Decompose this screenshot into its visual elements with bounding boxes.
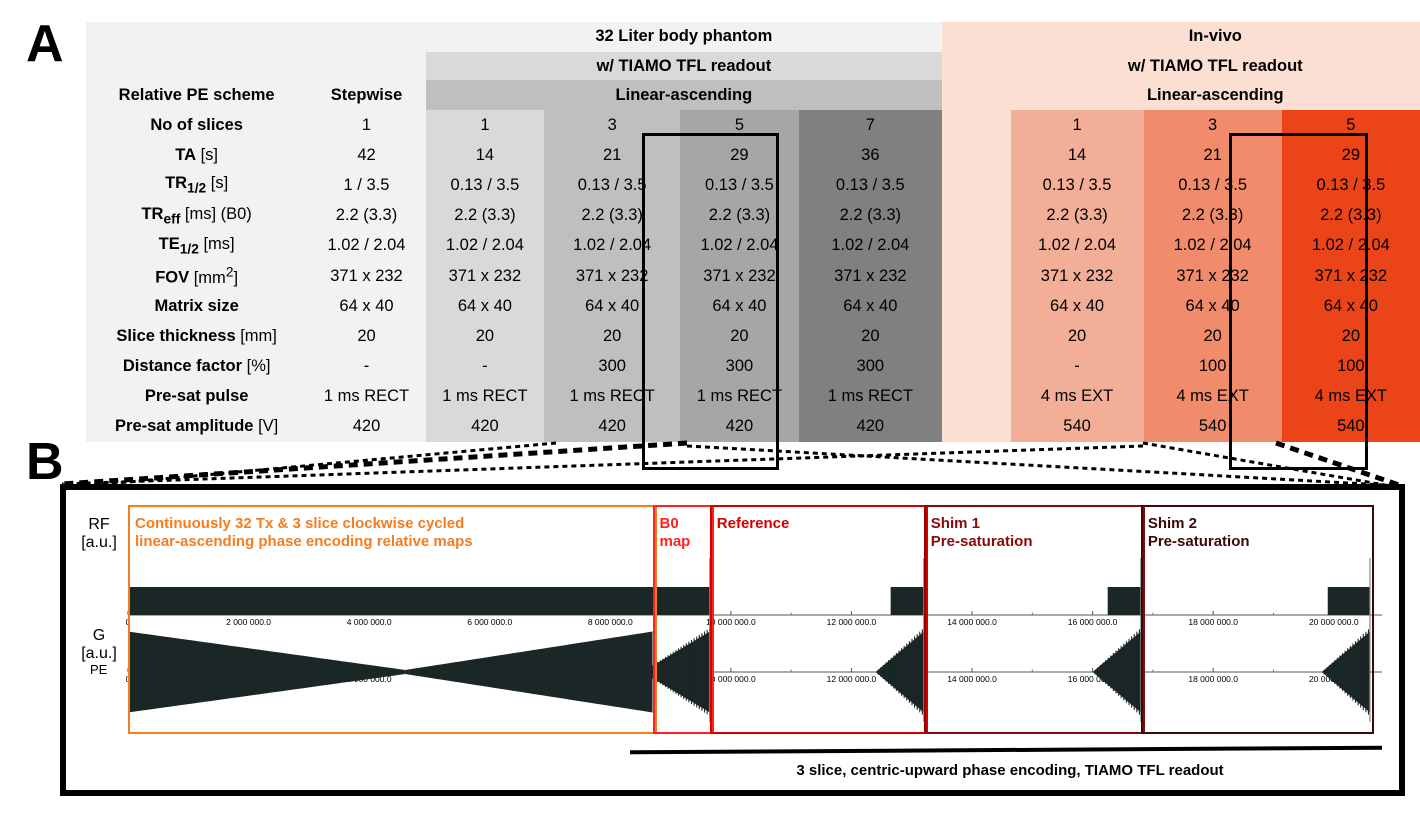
row-label-2: TR1/2 [s] — [86, 171, 307, 201]
cell-ph-lin-7-5: 371 x 232 — [799, 261, 942, 291]
cell-iv-lin-1-8: - — [1011, 352, 1144, 382]
table-row: TA [s]4214212936142129 — [86, 141, 1420, 171]
cell-iv-lin-1-1: 14 — [1011, 141, 1144, 171]
table-row: No of slices11357135 — [86, 110, 1420, 140]
region-label-line2-shim1: Pre-saturation — [931, 533, 1033, 551]
cell-ph-lin-5-9: 1 ms RECT — [680, 382, 798, 412]
table-row: Pre-sat pulse1 ms RECT1 ms RECT1 ms RECT… — [86, 382, 1420, 412]
spacer-cell — [942, 231, 1011, 261]
spec-table: 32 Liter body phantomIn-vivow/ TIAMO TFL… — [86, 22, 1420, 442]
scheme-linear-invivo: Linear-ascending — [1011, 80, 1420, 110]
sequence-region-label-reference: Reference — [717, 515, 790, 533]
cell-ph-lin-5-1: 29 — [680, 141, 798, 171]
cell-ph-lin-1-2: 0.13 / 3.5 — [426, 171, 544, 201]
cell-iv-lin-5-7: 20 — [1282, 321, 1420, 351]
cell-ph-lin-5-3: 2.2 (3.3) — [680, 201, 798, 231]
cell-ph-lin-7-2: 0.13 / 3.5 — [799, 171, 942, 201]
region-label-line1-shim1: Shim 1 — [931, 515, 1033, 533]
cell-iv-lin-3-2: 0.13 / 3.5 — [1144, 171, 1282, 201]
row-label-4: TE1/2 [ms] — [86, 231, 307, 261]
pe-envelope-3 — [876, 632, 924, 713]
spec-table-container: 32 Liter body phantomIn-vivow/ TIAMO TFL… — [86, 22, 1420, 442]
cell-ph-lin-3-2: 0.13 / 3.5 — [544, 171, 680, 201]
cell-ph-stepwise-3: 2.2 (3.3) — [307, 201, 425, 231]
table-group-subtitle-row: w/ TIAMO TFL readoutw/ TIAMO TFL readout — [86, 52, 1420, 80]
cell-ph-lin-1-8: - — [426, 352, 544, 382]
cell-ph-lin-1-1: 14 — [426, 141, 544, 171]
cell-iv-lin-1-2: 0.13 / 3.5 — [1011, 171, 1144, 201]
cell-iv-lin-3-9: 4 ms EXT — [1144, 382, 1282, 412]
axis-tick-label-rf-5: 10 000 000.0 — [706, 617, 756, 627]
row-label-3: TReff [ms] (B0) — [86, 201, 307, 231]
cell-iv-lin-1-4: 1.02 / 2.04 — [1011, 231, 1144, 261]
cell-iv-lin-1-3: 2.2 (3.3) — [1011, 201, 1144, 231]
row-label-1: TA [s] — [86, 141, 307, 171]
axis-tick-label-rf-4: 8 000 000.0 — [588, 617, 633, 627]
table-group-title-row: 32 Liter body phantomIn-vivo — [86, 22, 1420, 52]
cell-iv-lin-3-4: 1.02 / 2.04 — [1144, 231, 1282, 261]
spacer-cell — [942, 261, 1011, 291]
axis-tick-label-rf-10: 20 000 000.0 — [1309, 617, 1359, 627]
cell-ph-stepwise-0: 1 — [307, 110, 425, 140]
cell-ph-stepwise-2: 1 / 3.5 — [307, 171, 425, 201]
axis-tick-label-g-6: 12 000 000.0 — [827, 674, 877, 684]
axis-tick-label-rf-9: 18 000 000.0 — [1188, 617, 1238, 627]
cell-ph-stepwise-1: 42 — [307, 141, 425, 171]
cell-ph-lin-3-0: 3 — [544, 110, 680, 140]
spacer-cell — [942, 52, 1011, 80]
cell-ph-stepwise-8: - — [307, 352, 425, 382]
row-label-7: Slice thickness [mm] — [86, 321, 307, 351]
region-label-line1-shim2: Shim 2 — [1148, 515, 1250, 533]
pe-envelope-5 — [1322, 632, 1370, 713]
pe-envelope-1 — [405, 632, 652, 713]
rf-block-3 — [1328, 587, 1370, 615]
axis-tick-label-g-9: 18 000 000.0 — [1188, 674, 1238, 684]
cell-ph-lin-7-7: 20 — [799, 321, 942, 351]
cell-ph-lin-1-9: 1 ms RECT — [426, 382, 544, 412]
row-label-0: No of slices — [86, 110, 307, 140]
cell-ph-lin-7-1: 36 — [799, 141, 942, 171]
spacer-cell — [942, 80, 1011, 110]
region-label-line2-shim2: Pre-saturation — [1148, 533, 1250, 551]
cell-iv-lin-3-3: 2.2 (3.3) — [1144, 201, 1282, 231]
panel-a-label: A — [26, 18, 64, 70]
sequence-region-label-shim2: Shim 2Pre-saturation — [1148, 515, 1250, 550]
axis-tick-label-rf-8: 16 000 000.0 — [1068, 617, 1118, 627]
axis-tick-label-g-7: 14 000 000.0 — [947, 674, 997, 684]
cell-iv-lin-5-6: 64 x 40 — [1282, 291, 1420, 321]
panel-b-caption: 3 slice, centric-upward phase encoding, … — [630, 762, 1390, 779]
cell-ph-lin-3-3: 2.2 (3.3) — [544, 201, 680, 231]
sequence-region-label-b0map: B0map — [660, 515, 691, 550]
rf-block-1 — [891, 587, 924, 615]
row-label-5: FOV [mm2] — [86, 261, 307, 291]
cell-iv-lin-3-0: 3 — [1144, 110, 1282, 140]
sequence-region-label-shim1: Shim 1Pre-saturation — [931, 515, 1033, 550]
region-label-line1-cycled: Continuously 32 Tx & 3 slice clockwise c… — [135, 515, 473, 533]
cell-ph-lin-7-4: 1.02 / 2.04 — [799, 231, 942, 261]
cell-iv-lin-3-7: 20 — [1144, 321, 1282, 351]
group-subtitle-invivo: w/ TIAMO TFL readout — [1011, 52, 1420, 80]
cell-ph-lin-3-7: 20 — [544, 321, 680, 351]
region-label-line1-b0map: B0 — [660, 515, 691, 533]
scheme-linear-phantom: Linear-ascending — [426, 80, 942, 110]
cell-ph-lin-3-4: 1.02 / 2.04 — [544, 231, 680, 261]
cell-iv-lin-5-8: 100 — [1282, 352, 1420, 382]
table-row: FOV [mm2]371 x 232371 x 232371 x 232371 … — [86, 261, 1420, 291]
cell-iv-lin-5-9: 4 ms EXT — [1282, 382, 1420, 412]
cell-ph-lin-7-3: 2.2 (3.3) — [799, 201, 942, 231]
cell-ph-stepwise-5: 371 x 232 — [307, 261, 425, 291]
cell-ph-lin-3-9: 1 ms RECT — [544, 382, 680, 412]
table-scheme-row: Relative PE schemeStepwiseLinear-ascendi… — [86, 80, 1420, 110]
cell-ph-stepwise-6: 64 x 40 — [307, 291, 425, 321]
cell-ph-stepwise-7: 20 — [307, 321, 425, 351]
row-label-9: Pre-sat pulse — [86, 382, 307, 412]
cell-iv-lin-5-5: 371 x 232 — [1282, 261, 1420, 291]
cell-ph-lin-5-8: 300 — [680, 352, 798, 382]
cell-ph-lin-3-1: 21 — [544, 141, 680, 171]
axis-tick-label-rf-2: 4 000 000.0 — [347, 617, 392, 627]
row-label-6: Matrix size — [86, 291, 307, 321]
spacer-cell — [942, 352, 1011, 382]
rf-block-2 — [1108, 587, 1141, 615]
spacer-cell — [86, 22, 307, 52]
group-title-phantom: 32 Liter body phantom — [426, 22, 942, 52]
spacer-cell — [942, 110, 1011, 140]
cell-ph-lin-5-4: 1.02 / 2.04 — [680, 231, 798, 261]
cell-ph-lin-1-3: 2.2 (3.3) — [426, 201, 544, 231]
cell-ph-lin-3-5: 371 x 232 — [544, 261, 680, 291]
cell-iv-lin-1-6: 64 x 40 — [1011, 291, 1144, 321]
cell-ph-lin-5-5: 371 x 232 — [680, 261, 798, 291]
table-row: Distance factor [%]--300300300-100100 — [86, 352, 1420, 382]
spacer-cell — [942, 141, 1011, 171]
pe-envelope-0 — [128, 632, 405, 713]
cell-iv-lin-1-0: 1 — [1011, 110, 1144, 140]
row-label-8: Distance factor [%] — [86, 352, 307, 382]
cell-ph-lin-7-9: 1 ms RECT — [799, 382, 942, 412]
sequence-region-label-cycled: Continuously 32 Tx & 3 slice clockwise c… — [135, 515, 473, 550]
cell-ph-lin-1-0: 1 — [426, 110, 544, 140]
table-row: Matrix size64 x 4064 x 4064 x 4064 x 406… — [86, 291, 1420, 321]
cell-ph-lin-5-7: 20 — [680, 321, 798, 351]
table-row: TE1/2 [ms]1.02 / 2.041.02 / 2.041.02 / 2… — [86, 231, 1420, 261]
cell-ph-stepwise-9: 1 ms RECT — [307, 382, 425, 412]
axis-tick-label-rf-6: 12 000 000.0 — [827, 617, 877, 627]
region-label-line2-b0map: map — [660, 533, 691, 551]
cell-ph-lin-5-6: 64 x 40 — [680, 291, 798, 321]
cell-iv-lin-3-6: 64 x 40 — [1144, 291, 1282, 321]
row-label-relative-pe-scheme: Relative PE scheme — [86, 80, 307, 110]
cell-iv-lin-1-5: 371 x 232 — [1011, 261, 1144, 291]
cell-iv-lin-5-0: 5 — [1282, 110, 1420, 140]
cell-ph-lin-1-4: 1.02 / 2.04 — [426, 231, 544, 261]
table-row: TReff [ms] (B0)2.2 (3.3)2.2 (3.3)2.2 (3.… — [86, 201, 1420, 231]
spacer-cell — [942, 291, 1011, 321]
table-row: Slice thickness [mm]2020202020202020 — [86, 321, 1420, 351]
cell-ph-lin-7-6: 64 x 40 — [799, 291, 942, 321]
spacer-cell — [942, 382, 1011, 412]
spacer-cell — [942, 201, 1011, 231]
cell-ph-lin-1-7: 20 — [426, 321, 544, 351]
spacer-cell — [942, 171, 1011, 201]
region-label-line1-reference: Reference — [717, 515, 790, 533]
axis-tick-label-rf-0: 0 — [126, 617, 131, 627]
cell-ph-lin-3-8: 300 — [544, 352, 680, 382]
axis-tick-label-g-5: 10 000 000.0 — [706, 674, 756, 684]
cell-ph-lin-7-0: 7 — [799, 110, 942, 140]
cell-iv-lin-1-9: 4 ms EXT — [1011, 382, 1144, 412]
cell-iv-lin-5-1: 29 — [1282, 141, 1420, 171]
group-subtitle-phantom: w/ TIAMO TFL readout — [426, 52, 942, 80]
rf-block-0 — [128, 587, 710, 615]
cell-ph-lin-5-0: 5 — [680, 110, 798, 140]
spacer-cell — [942, 321, 1011, 351]
cell-iv-lin-5-2: 0.13 / 3.5 — [1282, 171, 1420, 201]
cell-ph-lin-1-6: 64 x 40 — [426, 291, 544, 321]
cell-ph-stepwise-4: 1.02 / 2.04 — [307, 231, 425, 261]
spacer-cell — [942, 22, 1011, 52]
axis-tick-label-rf-3: 6 000 000.0 — [467, 617, 512, 627]
spacer-cell — [307, 52, 425, 80]
cell-iv-lin-3-5: 371 x 232 — [1144, 261, 1282, 291]
cell-iv-lin-5-4: 1.02 / 2.04 — [1282, 231, 1420, 261]
scheme-stepwise: Stepwise — [307, 80, 425, 110]
axis-tick-label-rf-7: 14 000 000.0 — [947, 617, 997, 627]
cell-iv-lin-3-1: 21 — [1144, 141, 1282, 171]
spacer-cell — [307, 22, 425, 52]
cell-ph-lin-5-2: 0.13 / 3.5 — [680, 171, 798, 201]
cell-iv-lin-5-3: 2.2 (3.3) — [1282, 201, 1420, 231]
cell-ph-lin-7-8: 300 — [799, 352, 942, 382]
group-title-invivo: In-vivo — [1011, 22, 1420, 52]
region-label-line2-cycled: linear-ascending phase encoding relative… — [135, 533, 473, 551]
cell-iv-lin-3-8: 100 — [1144, 352, 1282, 382]
axis-tick-label-rf-1: 2 000 000.0 — [226, 617, 271, 627]
table-row: TR1/2 [s]1 / 3.50.13 / 3.50.13 / 3.50.13… — [86, 171, 1420, 201]
spacer-cell — [86, 52, 307, 80]
cell-iv-lin-1-7: 20 — [1011, 321, 1144, 351]
cell-ph-lin-1-5: 371 x 232 — [426, 261, 544, 291]
cell-ph-lin-3-6: 64 x 40 — [544, 291, 680, 321]
pe-envelope-4 — [1093, 632, 1141, 713]
